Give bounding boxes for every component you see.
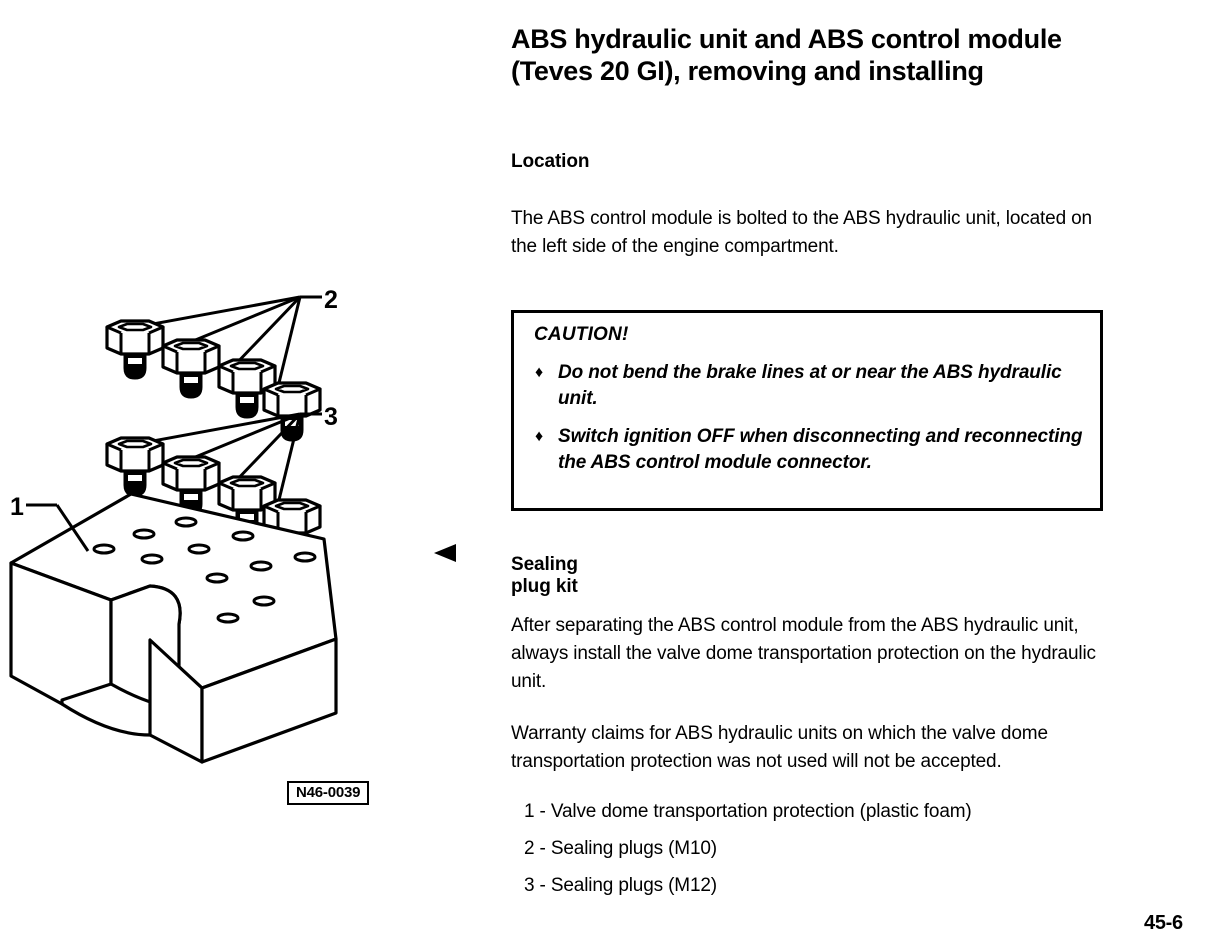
figure-legend-list: 1 - Valve dome transportation protection… <box>524 793 972 904</box>
caution-item: ♦ Switch ignition OFF when disconnecting… <box>532 424 1092 476</box>
figure-line-art: 2 3 <box>0 0 470 946</box>
callout-number-3: 3 <box>324 403 338 431</box>
caution-box: CAUTION! ♦ Do not bend the brake lines a… <box>511 310 1103 511</box>
caution-item: ♦ Do not bend the brake lines at or near… <box>532 360 1092 412</box>
caution-item-list: ♦ Do not bend the brake lines at or near… <box>532 360 1092 488</box>
caution-item-text: Switch ignition OFF when disconnecting a… <box>558 426 1082 473</box>
caution-title: CAUTION! <box>534 324 628 346</box>
callout-number-2: 2 <box>324 286 338 314</box>
location-heading: Location <box>511 151 589 173</box>
caution-item-text: Do not bend the brake lines at or near t… <box>558 362 1062 409</box>
sealing-plug-kit-paragraph-1: After separating the ABS control module … <box>511 612 1101 696</box>
diamond-bullet-icon: ♦ <box>535 360 543 386</box>
figure-id-label: N46-0039 <box>287 781 369 805</box>
diamond-bullet-icon: ♦ <box>535 424 543 450</box>
callout-number-1: 1 <box>10 493 24 521</box>
text-column: ABS hydraulic unit and ABS control modul… <box>511 0 1151 946</box>
legend-item: 2 - Sealing plugs (M10) <box>524 830 972 867</box>
location-paragraph: The ABS control module is bolted to the … <box>511 205 1101 261</box>
sealing-plug-kit-heading: Sealing plug kit <box>511 554 578 598</box>
sealing-plug-kit-paragraph-2: Warranty claims for ABS hydraulic units … <box>511 720 1111 776</box>
plastic-foam-block <box>11 494 336 762</box>
technical-illustration: 2 3 <box>0 0 470 946</box>
legend-item: 3 - Sealing plugs (M12) <box>524 867 972 904</box>
page-number: 45-6 <box>1144 912 1183 935</box>
legend-item: 1 - Valve dome transportation protection… <box>524 793 972 830</box>
page-title: ABS hydraulic unit and ABS control modul… <box>511 24 1111 87</box>
left-triangle-marker-icon <box>434 544 456 562</box>
